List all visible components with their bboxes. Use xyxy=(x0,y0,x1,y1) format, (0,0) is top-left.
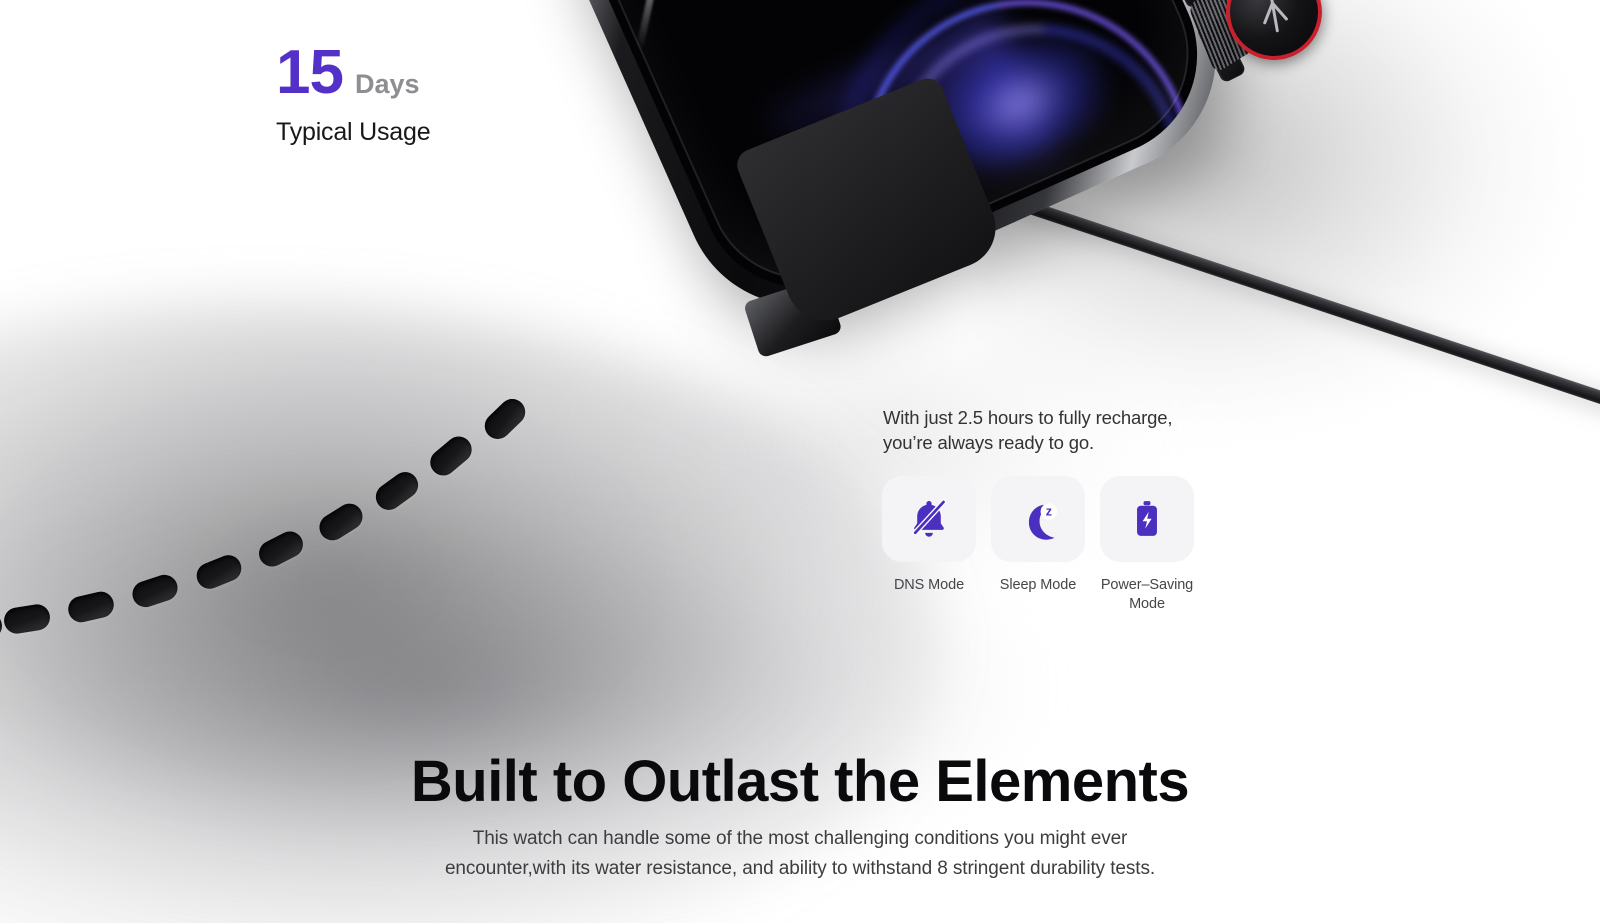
battery-days-number: 15 xyxy=(276,42,343,104)
power-mode-label: DNS Mode xyxy=(894,576,964,595)
power-mode-tile[interactable] xyxy=(882,476,976,562)
page-headline: Built to Outlast the Elements xyxy=(0,748,1600,815)
battery-days-unit: Days xyxy=(355,71,420,98)
battery-life-value-row: 15 Days xyxy=(276,42,430,104)
battery-bolt-icon xyxy=(1124,496,1170,542)
bell-slash-icon xyxy=(906,496,952,542)
power-mode-item-dns[interactable]: DNS Mode xyxy=(882,476,976,614)
power-mode-list: DNS Mode z Sleep Mode Power–Saving Mo xyxy=(882,476,1194,614)
brand-logo-icon xyxy=(1256,0,1293,35)
recharge-description: With just 2.5 hours to fully recharge, y… xyxy=(883,405,1213,455)
recharge-line-1: With just 2.5 hours to fully recharge, xyxy=(883,405,1213,430)
subheadline-line-1: This watch can handle some of the most c… xyxy=(473,828,1128,849)
product-feature-page: 15 Days Typical Usage With just 2.5 hour… xyxy=(0,0,1600,923)
subheadline-line-2: encounter,with its water resistance, and… xyxy=(445,858,1155,879)
svg-text:z: z xyxy=(1046,505,1052,519)
battery-usage-caption: Typical Usage xyxy=(276,118,430,147)
power-mode-tile[interactable]: z xyxy=(991,476,1085,562)
power-mode-tile[interactable] xyxy=(1100,476,1194,562)
moon-z-icon: z xyxy=(1015,496,1061,542)
page-subheadline: This watch can handle some of the most c… xyxy=(430,824,1170,884)
recharge-line-2: you’re always ready to go. xyxy=(883,430,1213,455)
power-mode-label: Sleep Mode xyxy=(1000,576,1076,595)
power-mode-label: Power–Saving Mode xyxy=(1100,576,1194,614)
power-mode-item-sleep[interactable]: z Sleep Mode xyxy=(991,476,1085,614)
battery-life-stat: 15 Days Typical Usage xyxy=(276,42,430,147)
power-mode-item-power-saving[interactable]: Power–Saving Mode xyxy=(1100,476,1194,614)
